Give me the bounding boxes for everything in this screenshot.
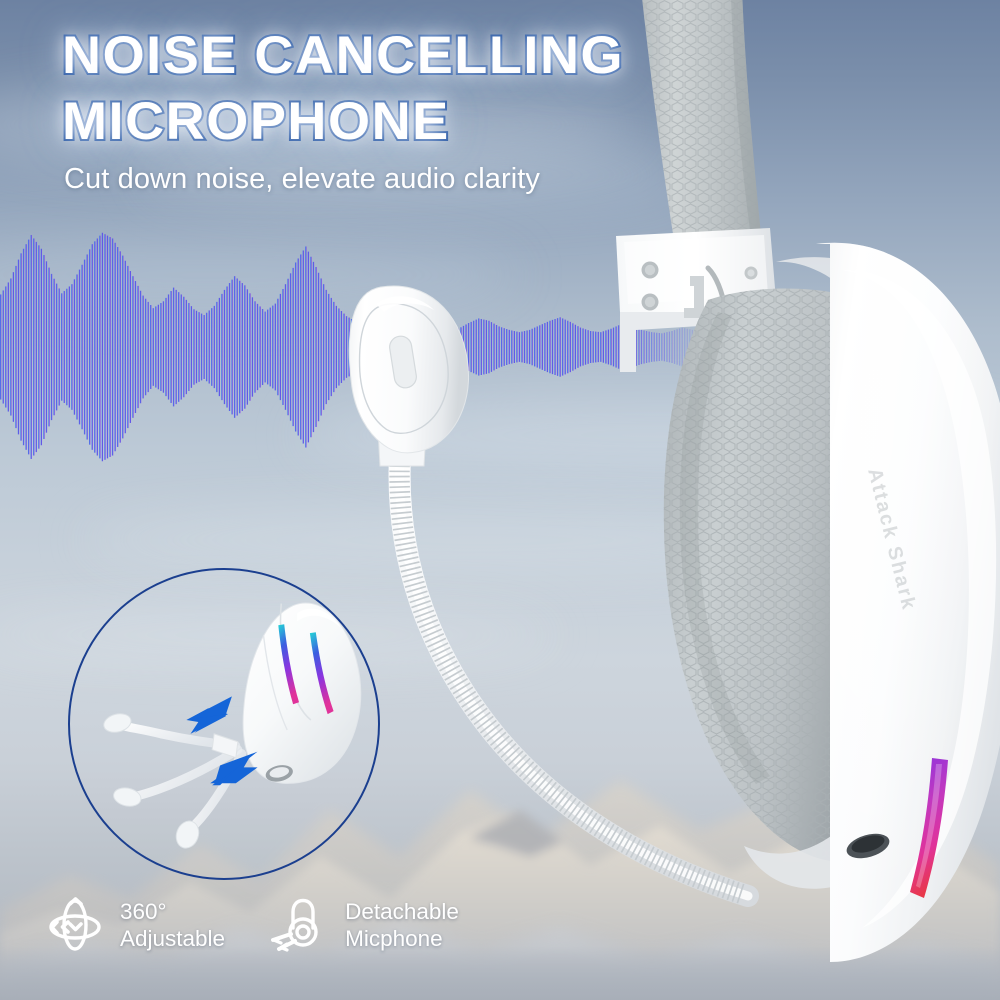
mic-connector-stub: [212, 734, 238, 758]
inset-illustration: [70, 570, 378, 878]
feature-row: 360° Adjustable Detachable Micphone: [44, 894, 459, 956]
product-marketing-image: R Attack Shark: [0, 0, 1000, 1000]
microphone-capsule: [337, 280, 480, 460]
feature-label-line-2: Micphone: [345, 925, 459, 952]
headline-block: NOISE CANCELLING MICROPHONE Cut down noi…: [62, 26, 702, 196]
feature-label-line-1: Detachable: [345, 899, 459, 924]
feature-label-360-adjustable: 360° Adjustable: [120, 898, 225, 952]
headline-line-2: MICROPHONE: [62, 92, 715, 152]
feature-label-line-2: Adjustable: [120, 925, 225, 952]
boom-microphone: [300, 280, 920, 920]
headline-line-1: NOISE CANCELLING: [62, 26, 715, 86]
rotate-360-icon: [44, 894, 106, 956]
feature-label-detachable-mic: Detachable Micphone: [345, 898, 459, 952]
inset-callout-circle: [68, 568, 380, 880]
detachable-headphone-icon: [269, 894, 331, 956]
feature-item-detachable-mic: Detachable Micphone: [269, 894, 459, 956]
inset-earcup: [243, 603, 361, 784]
boom-mic-illustration: [300, 280, 920, 920]
feature-label-line-1: 360°: [120, 899, 167, 924]
feature-item-360-adjustable: 360° Adjustable: [44, 894, 225, 956]
headline-subtitle: Cut down noise, elevate audio clarity: [64, 162, 702, 196]
mic-capsule-ghost-2: [112, 785, 143, 808]
